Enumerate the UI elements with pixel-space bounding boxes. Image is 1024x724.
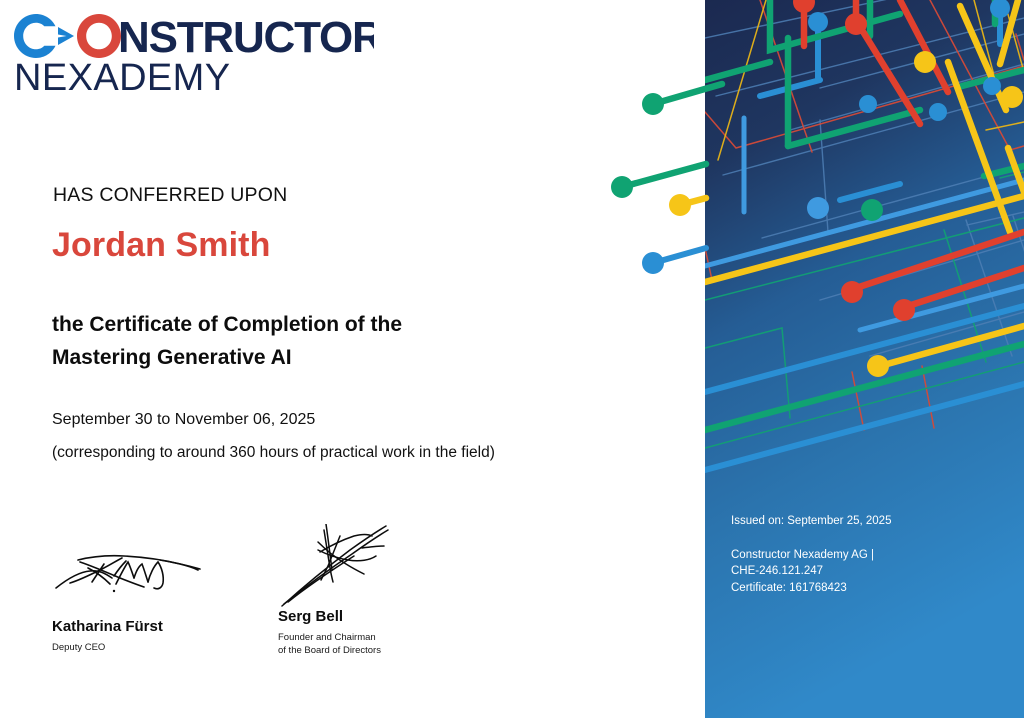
node-dot-green-1 <box>642 93 664 115</box>
signature-name-2: Serg Bell <box>278 608 478 625</box>
legal-info: Constructor Nexademy AG | CHE-246.121.24… <box>731 547 891 597</box>
brand-logo: NSTRUCTOR NEXADEMY <box>14 14 394 96</box>
certificate-title-line-1: the Certificate of Completion of the <box>52 308 612 341</box>
recipient-name: Jordan Smith <box>52 226 270 265</box>
logo-c-glyph <box>14 14 56 58</box>
hours-note: (corresponding to around 360 hours of pr… <box>52 444 495 462</box>
signature-block-2: Serg Bell Founder and Chairman of the Bo… <box>278 524 478 657</box>
logo-o-glyph <box>77 14 121 58</box>
node-dot-blue-1 <box>642 252 664 274</box>
issue-info: Issued on: September 25, 2025 Constructo… <box>731 513 891 596</box>
issued-on-date: Issued on: September 25, 2025 <box>731 513 891 530</box>
signature-role-2-line-2: of the Board of Directors <box>278 645 478 658</box>
certificate-title-line-2: Mastering Generative AI <box>52 341 612 374</box>
signature-mark-serg-bell <box>278 524 398 608</box>
certificate-document: NSTRUCTOR NEXADEMY HAS CONFERRED UPON Jo… <box>0 0 1024 724</box>
date-range: September 30 to November 06, 2025 <box>52 411 315 429</box>
panel-network-overhang <box>611 84 722 274</box>
signature-mark-katharina-fuerst <box>52 538 212 608</box>
signature-role-1-line-1: Deputy CEO <box>52 642 252 655</box>
signature-name-1: Katharina Fürst <box>52 618 252 635</box>
node-dot-green-2 <box>611 176 633 198</box>
panel-network-graphic <box>705 0 1024 470</box>
signature-role-2-line-1: Founder and Chairman <box>278 632 478 645</box>
logo-chevron-icon <box>58 27 74 45</box>
legal-line-2: CHE-246.121.247 <box>731 563 891 580</box>
conferred-label: HAS CONFERRED UPON <box>53 184 287 207</box>
certificate-title: the Certificate of Completion of the Mas… <box>52 308 612 374</box>
logo-nexademy-text: NEXADEMY <box>14 60 230 96</box>
legal-line-1: Constructor Nexademy AG | <box>731 547 891 564</box>
node-dots-inner <box>793 0 1023 377</box>
signature-block-1: Katharina Fürst Deputy CEO <box>52 538 252 655</box>
logo-constructor-text: NSTRUCTOR <box>118 14 374 58</box>
logo-constructor-wordmark: NSTRUCTOR <box>14 14 374 58</box>
panel-background <box>705 0 1024 718</box>
signature-role-1: Deputy CEO <box>52 642 252 655</box>
legal-line-3: Certificate: 161768423 <box>731 580 891 597</box>
signature-role-2: Founder and Chairman of the Board of Dir… <box>278 632 478 657</box>
logo-nexademy-wordmark: NEXADEMY <box>14 60 374 96</box>
node-dot-yellow-1 <box>669 194 691 216</box>
